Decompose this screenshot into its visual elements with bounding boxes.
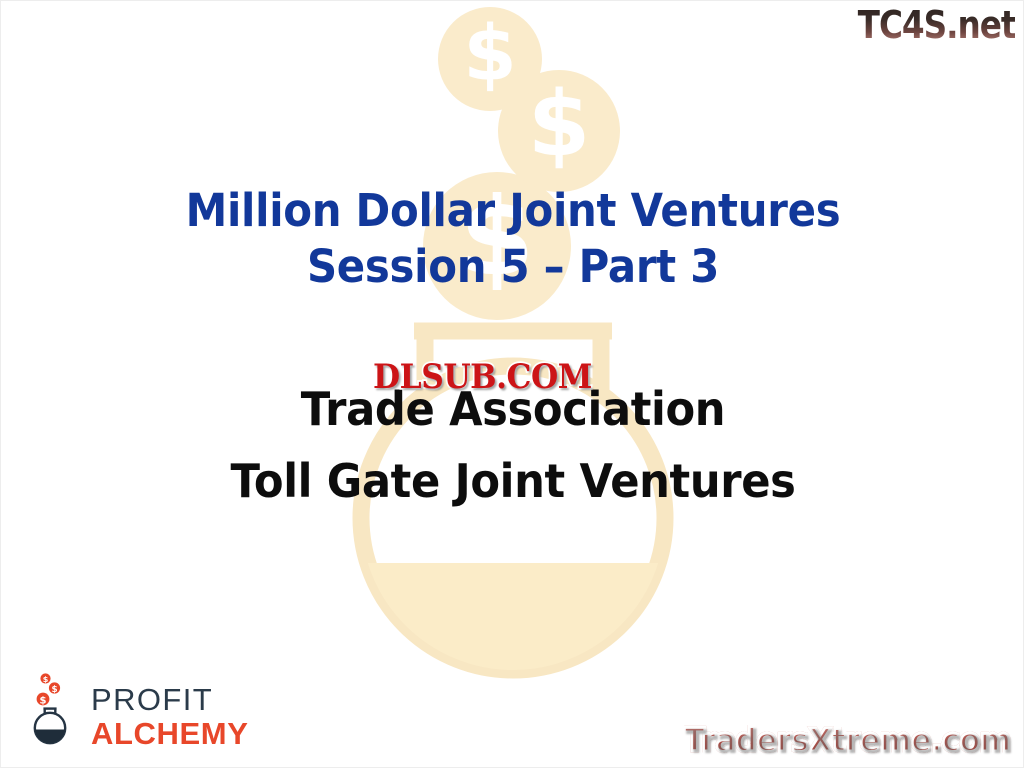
logo-coin-icon-1: $ xyxy=(40,673,50,684)
logo-coin-icon-3: $ xyxy=(37,692,50,706)
tc4s-brand-logo: TC4S.net xyxy=(857,3,1015,47)
logo-word-profit: PROFIT xyxy=(91,684,248,715)
tc4s-brand-logo-text: TC4S.net xyxy=(857,3,1015,47)
coin-icon-1: $ xyxy=(438,7,542,111)
svg-text:$: $ xyxy=(40,695,47,706)
coin-icon-2: $ xyxy=(498,70,620,192)
tradersxtreme-watermark-text: TradersXtreme.com xyxy=(684,721,1011,759)
svg-text:$: $ xyxy=(43,675,49,684)
page-title-line-1: Million Dollar Joint Ventures xyxy=(37,183,989,239)
flask-liquid xyxy=(351,563,675,723)
tradersxtreme-watermark: TradersXtreme.com xyxy=(684,721,1011,759)
profit-alchemy-logo: $ $ $ PROFIT ALCHEMY xyxy=(25,668,248,749)
profit-alchemy-wordmark: PROFIT ALCHEMY xyxy=(91,668,248,749)
logo-coin-icon-2: $ xyxy=(49,682,60,694)
page-subtitle-line-2: Toll Gate Joint Ventures xyxy=(32,445,995,517)
logo-word-alchemy: ALCHEMY xyxy=(91,718,248,749)
svg-text:$: $ xyxy=(528,72,591,177)
flask-with-coins-icon: $ $ $ xyxy=(25,671,81,747)
page-title-line-2: Session 5 – Part 3 xyxy=(37,239,989,295)
svg-text:$: $ xyxy=(51,684,57,694)
svg-text:$: $ xyxy=(463,10,517,99)
slide-canvas: $ $ $ TC4S.net Million Dollar Joint Vent… xyxy=(0,0,1024,768)
dlsub-watermark: DLSUB.COM xyxy=(373,358,592,396)
page-title: Million Dollar Joint Ventures Session 5 … xyxy=(1,183,1024,295)
dlsub-watermark-text: DLSUB.COM xyxy=(373,357,592,397)
